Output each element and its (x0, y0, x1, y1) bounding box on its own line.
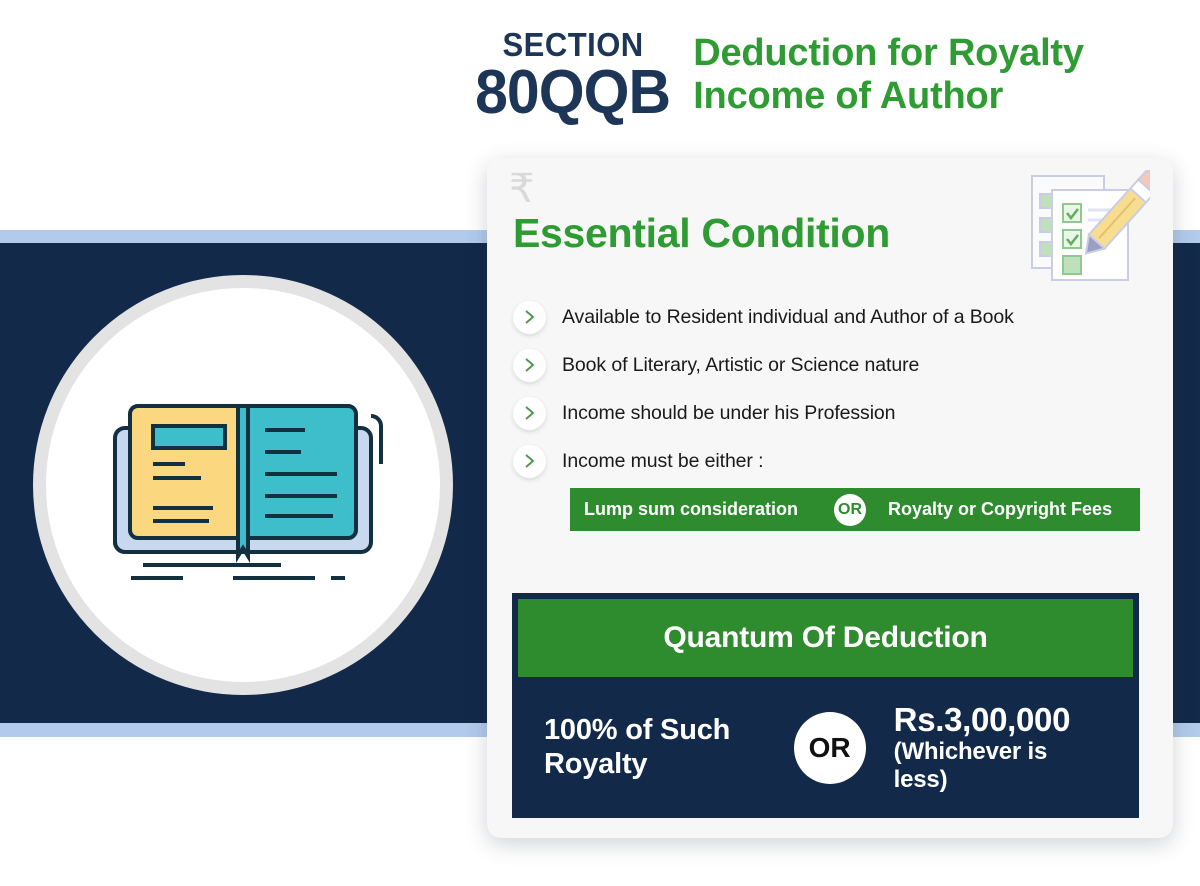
header-title: Deduction for Royalty Income of Author (693, 22, 1084, 118)
list-item: Book of Literary, Artistic or Science na… (513, 341, 1158, 389)
income-option-left: Lump sum consideration (584, 499, 798, 520)
list-item-label: Available to Resident individual and Aut… (562, 306, 1014, 329)
quantum-heading-label: Quantum Of Deduction (663, 621, 987, 655)
list-item: Available to Resident individual and Aut… (513, 293, 1158, 341)
or-separator-badge: OR (834, 494, 866, 526)
section-code-block: SECTION 80QQB (470, 22, 675, 124)
list-item-label: Book of Literary, Artistic or Science na… (562, 354, 919, 377)
chevron-right-icon (513, 445, 546, 478)
quantum-or-badge: OR (794, 712, 866, 784)
income-options-bar: Lump sum consideration OR Royalty or Cop… (570, 488, 1140, 531)
quantum-of-deduction-panel: Quantum Of Deduction 100% of Such Royalt… (512, 593, 1139, 818)
quantum-option-left: 100% of Such Royalty (544, 714, 794, 780)
illustration-circle (33, 275, 453, 695)
quantum-body: 100% of Such Royalty OR Rs.3,00,000 (Whi… (518, 677, 1133, 818)
list-item: Income should be under his Profession (513, 389, 1158, 437)
header: SECTION 80QQB Deduction for Royalty Inco… (470, 22, 1170, 142)
header-title-line1: Deduction for Royalty (693, 32, 1084, 75)
list-item: Income must be either : (513, 437, 1158, 485)
quantum-header: Quantum Of Deduction (518, 599, 1133, 677)
infographic-canvas: SECTION 80QQB Deduction for Royalty Inco… (0, 0, 1200, 886)
list-item-label: Income should be under his Profession (562, 402, 895, 425)
quantum-option-right: Rs.3,00,000 (Whichever is less) (894, 702, 1107, 793)
header-title-line2: Income of Author (693, 75, 1084, 118)
rupee-watermark-icon: ₹ (509, 166, 534, 212)
card-title: Essential Condition (513, 210, 890, 257)
chevron-right-icon (513, 349, 546, 382)
chevron-right-icon (513, 301, 546, 334)
checklist-pencil-icon (1018, 170, 1150, 282)
section-code: 80QQB (475, 62, 670, 124)
quantum-note: (Whichever is less) (894, 738, 1107, 793)
quantum-amount: Rs.3,00,000 (894, 702, 1107, 738)
section-label: SECTION (502, 28, 643, 61)
open-book-illustration (93, 380, 393, 590)
chevron-right-icon (513, 397, 546, 430)
condition-list: Available to Resident individual and Aut… (513, 293, 1158, 485)
income-option-right: Royalty or Copyright Fees (888, 499, 1112, 520)
essential-condition-card: ₹ Essential Condition (487, 158, 1173, 838)
list-item-label: Income must be either : (562, 450, 763, 473)
